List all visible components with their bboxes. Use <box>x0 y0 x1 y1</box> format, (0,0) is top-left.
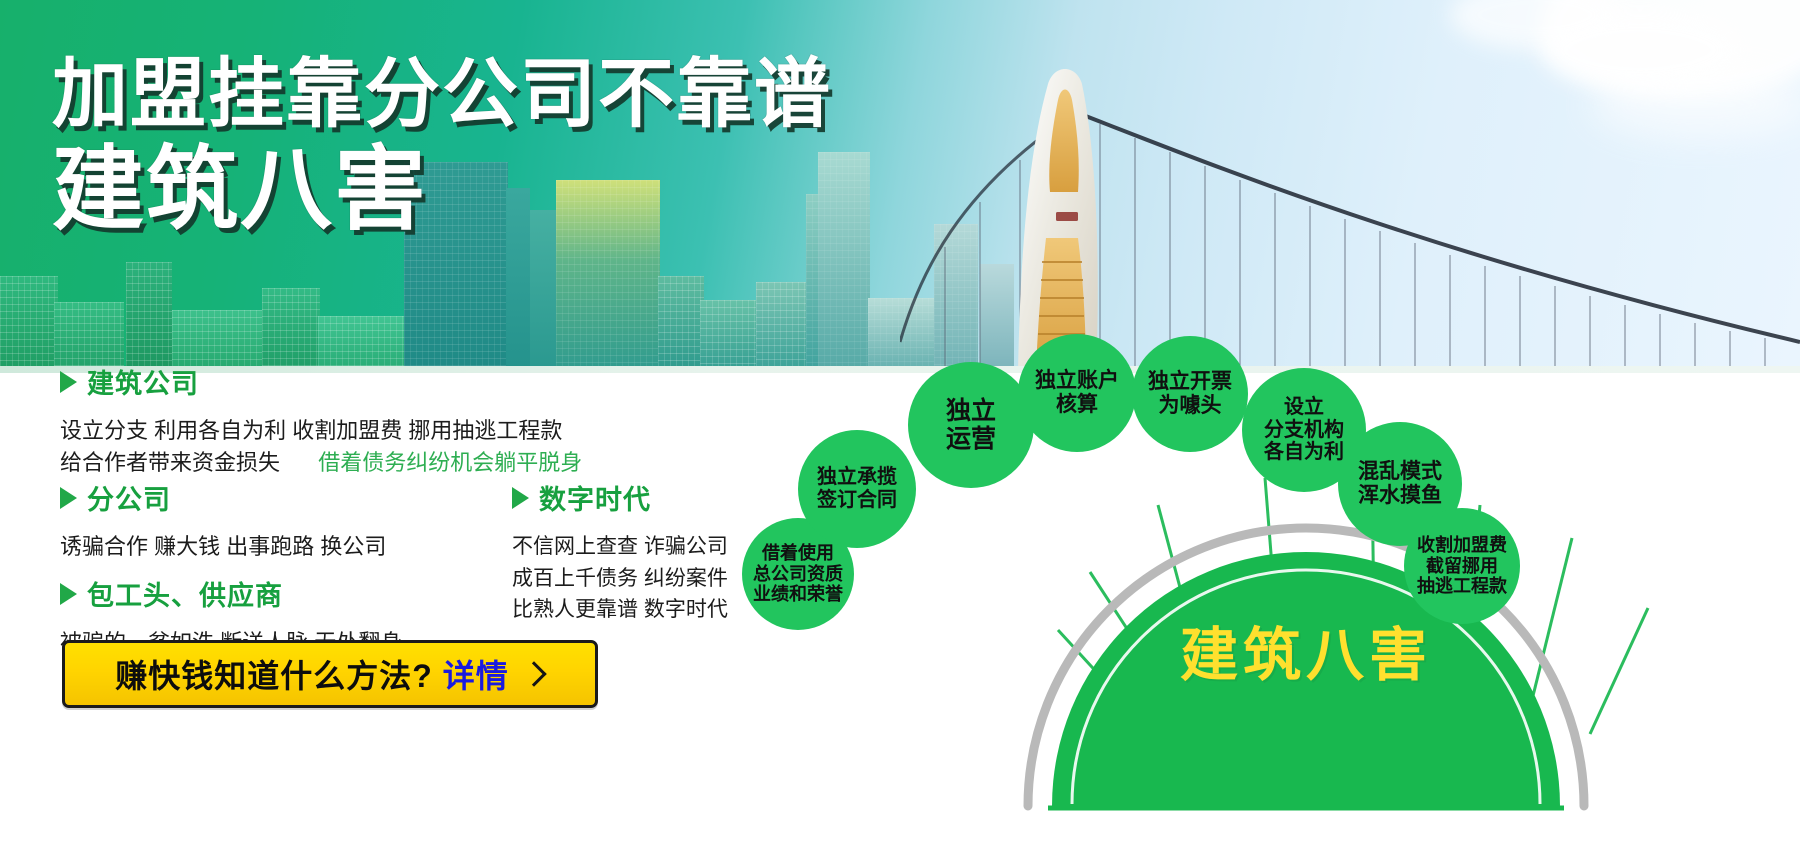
bridge-svg <box>900 42 1800 372</box>
section-line-plain: 给合作者带来资金损失 <box>60 450 280 475</box>
left-content: 建筑公司 设立分支 利用各自为利 收割加盟费 挪用抽逃工程款 给合作者带来资金损… <box>0 388 800 844</box>
bubble-line: 总公司资质 <box>753 564 843 585</box>
cta-button[interactable]: 赚快钱知道什么方法? 详情 <box>62 640 598 708</box>
bubble-line: 独立账户 <box>1035 369 1119 393</box>
section-line: 设立分支 利用各自为利 收割加盟费 挪用抽逃工程款 <box>60 415 582 447</box>
section-header: 建筑公司 <box>60 362 582 401</box>
section-body: 设立分支 利用各自为利 收割加盟费 挪用抽逃工程款 给合作者带来资金损失 借着债… <box>60 415 582 479</box>
hero-title-line1: 加盟挂靠分公司不靠谱 <box>52 56 832 134</box>
bubble-item[interactable]: 独立开票 为噱头 <box>1132 336 1248 452</box>
bubble-line: 独立承揽 <box>817 466 897 489</box>
section-branch-company: 分公司 诱骗合作 赚大钱 出事跑路 换公司 <box>60 478 386 563</box>
bubble-line: 运营 <box>946 425 996 454</box>
bubble-line: 截留挪用 <box>1417 556 1507 577</box>
building-shape <box>262 288 320 372</box>
bubble-item[interactable]: 独立承揽 签订合同 <box>798 430 916 548</box>
building-shape <box>658 276 704 372</box>
section-line: 比熟人更靠谱 数字时代 <box>512 594 728 626</box>
bubble-item[interactable]: 独立账户 核算 <box>1018 334 1136 452</box>
section-body: 不信网上查查 诈骗公司 成百上千债务 纠纷案件 比熟人更靠谱 数字时代 <box>512 531 728 626</box>
section-header: 包工头、供应商 <box>60 574 402 613</box>
bubble-line: 分支机构 <box>1264 419 1344 442</box>
triangle-bullet-icon <box>60 583 77 605</box>
section-line: 不信网上查查 诈骗公司 <box>512 531 728 563</box>
bubble-line: 抽逃工程款 <box>1417 576 1507 597</box>
section-title: 包工头、供应商 <box>87 574 283 613</box>
hero-title-block: 加盟挂靠分公司不靠谱 建筑八害 <box>52 56 832 237</box>
bubble-line: 业绩和荣誉 <box>753 584 843 605</box>
section-line: 给合作者带来资金损失 借着债务纠纷机会躺平脱身 <box>60 447 582 479</box>
triangle-bullet-icon <box>60 371 77 393</box>
section-digital-age: 数字时代 不信网上查查 诈骗公司 成百上千债务 纠纷案件 比熟人更靠谱 数字时代 <box>512 478 728 626</box>
bubble-line: 独立开票 <box>1148 370 1232 394</box>
triangle-bullet-icon <box>512 487 529 509</box>
dome-center-label: 建筑八害 <box>1016 608 1596 692</box>
section-line-highlight: 借着债务纠纷机会躺平脱身 <box>318 450 582 475</box>
poster-root: 加盟挂靠分公司不靠谱 建筑八害 建筑公司 设立分支 利用各自为利 收割加盟费 挪… <box>0 0 1800 844</box>
section-header: 分公司 <box>60 478 386 517</box>
section-body: 诱骗合作 赚大钱 出事跑路 换公司 <box>60 531 386 563</box>
cta-link-text[interactable]: 详情 <box>443 651 509 697</box>
chevron-right-icon <box>521 661 546 686</box>
bubble-dome-diagram: 建筑八害 借着使用 总公司资质 业绩和荣誉 独立承揽 签订合同 独立 运营 独立… <box>790 330 1800 844</box>
bubble-line: 借着使用 <box>753 543 843 564</box>
bubble-line: 独立 <box>946 397 996 426</box>
section-line: 诱骗合作 赚大钱 出事跑路 换公司 <box>60 531 386 563</box>
section-header: 数字时代 <box>512 478 728 517</box>
bubble-line: 签订合同 <box>817 489 897 512</box>
bubble-line: 收割加盟费 <box>1417 535 1507 556</box>
bubble-line: 浑水摸鱼 <box>1358 484 1442 508</box>
bubble-line: 核算 <box>1035 393 1119 417</box>
bubble-line: 各自为利 <box>1264 441 1344 464</box>
section-line: 成百上千债务 纠纷案件 <box>512 563 728 595</box>
section-construction-company: 建筑公司 设立分支 利用各自为利 收割加盟费 挪用抽逃工程款 给合作者带来资金损… <box>60 362 582 479</box>
building-shape <box>0 276 58 372</box>
section-title: 数字时代 <box>539 478 651 517</box>
bubble-item[interactable]: 独立 运营 <box>908 362 1034 488</box>
bridge-illustration <box>900 42 1800 372</box>
hero-banner: 加盟挂靠分公司不靠谱 建筑八害 <box>0 0 1800 372</box>
bubble-line: 为噱头 <box>1148 394 1232 418</box>
building-shape <box>126 262 172 372</box>
cta-main-text: 赚快钱知道什么方法? <box>115 651 433 697</box>
building-shape <box>700 300 760 372</box>
hero-title-line2: 建筑八害 <box>52 144 832 238</box>
bubble-line: 设立 <box>1264 396 1344 419</box>
bubble-line: 混乱模式 <box>1358 460 1442 484</box>
triangle-bullet-icon <box>60 487 77 509</box>
section-title: 分公司 <box>87 478 171 517</box>
section-title: 建筑公司 <box>87 362 199 401</box>
bubble-item[interactable]: 收割加盟费 截留挪用 抽逃工程款 <box>1404 508 1520 624</box>
